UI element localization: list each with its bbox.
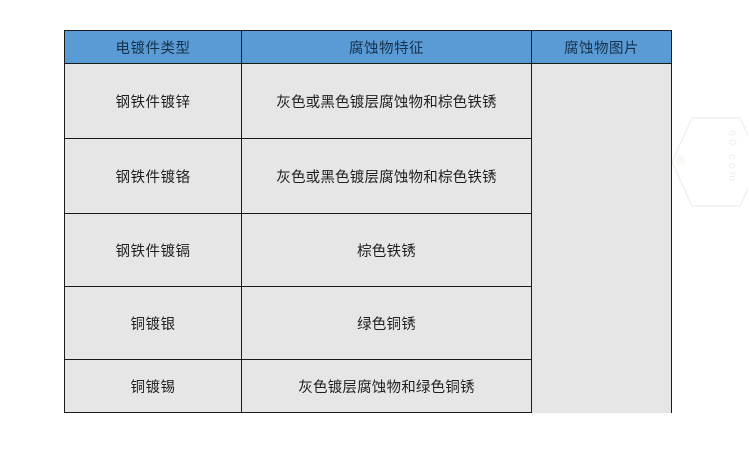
watermark-hexagon-icon [662,112,748,212]
column-header-corrosion-feature: 腐蚀物特征 [242,31,532,64]
cell-corrosion-feature: 绿色铜锈 [242,287,532,360]
cell-corrosion-feature: 棕色铁锈 [242,214,532,287]
cell-corrosion-photo [532,214,672,287]
cell-corrosion-photo [532,287,672,360]
column-header-plating-type: 电镀件类型 [65,31,242,64]
cell-corrosion-feature: 灰色或黑色镀层腐蚀物和棕色铁锈 [242,64,532,139]
cell-plating-type: 钢铁件镀锌 [65,64,242,139]
cell-plating-type: 钢铁件镀镉 [65,214,242,287]
table-row: 铜镀银 绿色铜锈 [65,287,672,360]
cell-plating-type: 铜镀锡 [65,360,242,413]
table-header-row: 电镀件类型 腐蚀物特征 腐蚀物图片 [65,31,672,64]
table-row: 钢铁件镀镉 棕色铁锈 [65,214,672,287]
table-header: 电镀件类型 腐蚀物特征 腐蚀物图片 [65,31,672,64]
cell-corrosion-photo [532,360,672,413]
table-body: 钢铁件镀锌 灰色或黑色镀层腐蚀物和棕色铁锈 钢铁件镀铬 灰色或黑色镀层腐蚀物和棕… [65,64,672,413]
table-row: 钢铁件镀锌 灰色或黑色镀层腐蚀物和棕色铁锈 [65,64,672,139]
table-row: 铜镀锡 灰色镀层腐蚀物和绿色铜锈 [65,360,672,413]
cell-corrosion-photo [532,139,672,214]
watermark-text: 60.com [676,130,738,184]
corrosion-spec-table: 电镀件类型 腐蚀物特征 腐蚀物图片 钢铁件镀锌 灰色或黑色镀层腐蚀物和棕色铁锈 … [64,30,672,413]
column-header-corrosion-photo: 腐蚀物图片 [532,31,672,64]
cell-plating-type: 钢铁件镀铬 [65,139,242,214]
table-row: 钢铁件镀铬 灰色或黑色镀层腐蚀物和棕色铁锈 [65,139,672,214]
cell-corrosion-feature: 灰色或黑色镀层腐蚀物和棕色铁锈 [242,139,532,214]
cell-corrosion-photo [532,64,672,139]
corrosion-table-container: 电镀件类型 腐蚀物特征 腐蚀物图片 钢铁件镀锌 灰色或黑色镀层腐蚀物和棕色铁锈 … [64,30,671,413]
cell-corrosion-feature: 灰色镀层腐蚀物和绿色铜锈 [242,360,532,413]
cell-plating-type: 铜镀银 [65,287,242,360]
watermark: 60.com 图 [662,112,748,212]
